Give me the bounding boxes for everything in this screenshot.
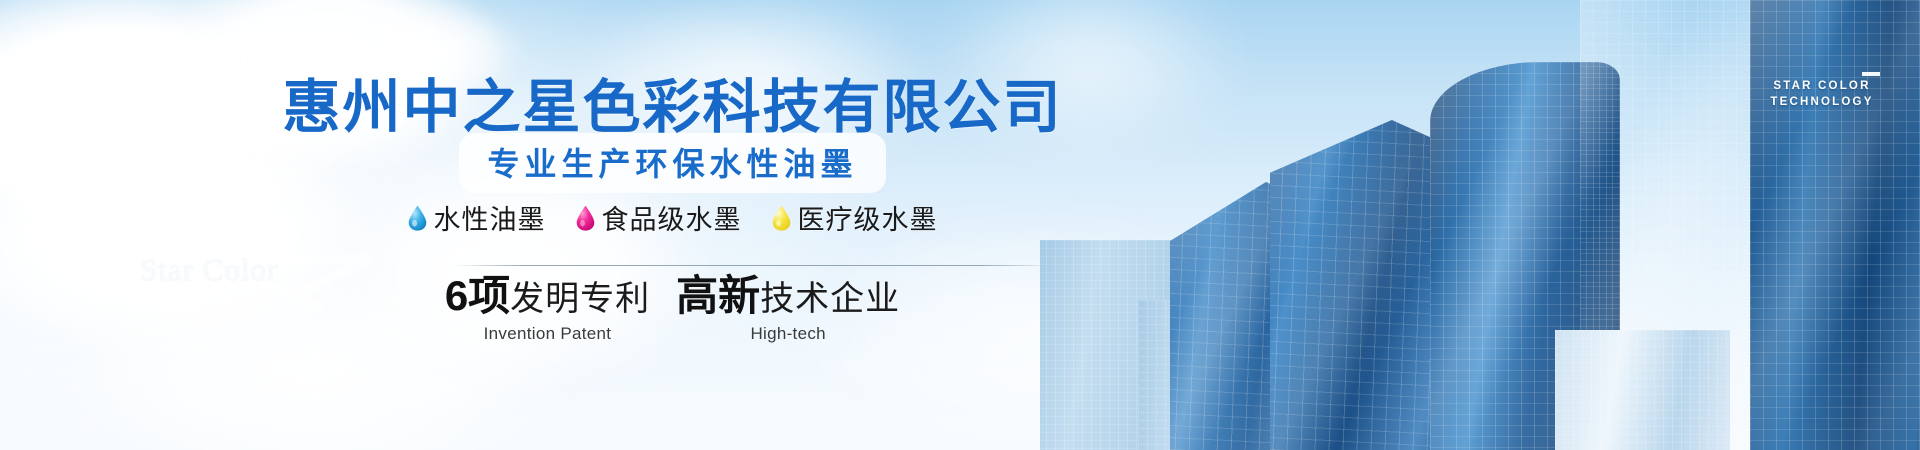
badge-rest-text: 发明专利	[510, 280, 650, 318]
badge-english-text: High-tech	[676, 324, 900, 344]
badge-english-text: Invention Patent	[445, 324, 650, 344]
badge-high-tech: 高新技术企业 High-tech	[676, 275, 900, 344]
feature-label: 食品级水墨	[602, 198, 742, 237]
feature-list: 水性油墨	[0, 198, 1345, 237]
badge-main-text: 高新技术企业	[676, 275, 900, 317]
feature-item: 食品级水墨	[576, 198, 742, 237]
feature-label: 水性油墨	[434, 198, 546, 237]
water-drop-icon	[576, 205, 595, 231]
company-banner: Star Color	[0, 0, 1920, 450]
badge-strong-text: 6项	[445, 272, 510, 319]
badge-strong-text: 高新	[676, 272, 760, 319]
section-divider	[452, 265, 1052, 266]
credential-badges: 6项发明专利 Invention Patent 高新技术企业 High-tech	[0, 275, 1345, 344]
tagline-container: 专业生产环保水性油墨	[0, 133, 1345, 193]
feature-label: 医疗级水墨	[798, 198, 938, 237]
company-title: 惠州中之星色彩科技有限公司	[0, 60, 1345, 144]
feature-item: 水性油墨	[408, 198, 546, 237]
badge-rest-text: 技术企业	[760, 280, 900, 318]
feature-item: 医疗级水墨	[772, 198, 938, 237]
badge-invention-patent: 6项发明专利 Invention Patent	[445, 275, 650, 344]
badge-main-text: 6项发明专利	[445, 275, 650, 317]
banner-content: 惠州中之星色彩科技有限公司 专业生产环保水性油墨	[0, 0, 1920, 450]
water-drop-icon	[408, 205, 427, 231]
tagline-pill: 专业生产环保水性油墨	[459, 133, 885, 193]
water-drop-icon	[772, 205, 791, 231]
